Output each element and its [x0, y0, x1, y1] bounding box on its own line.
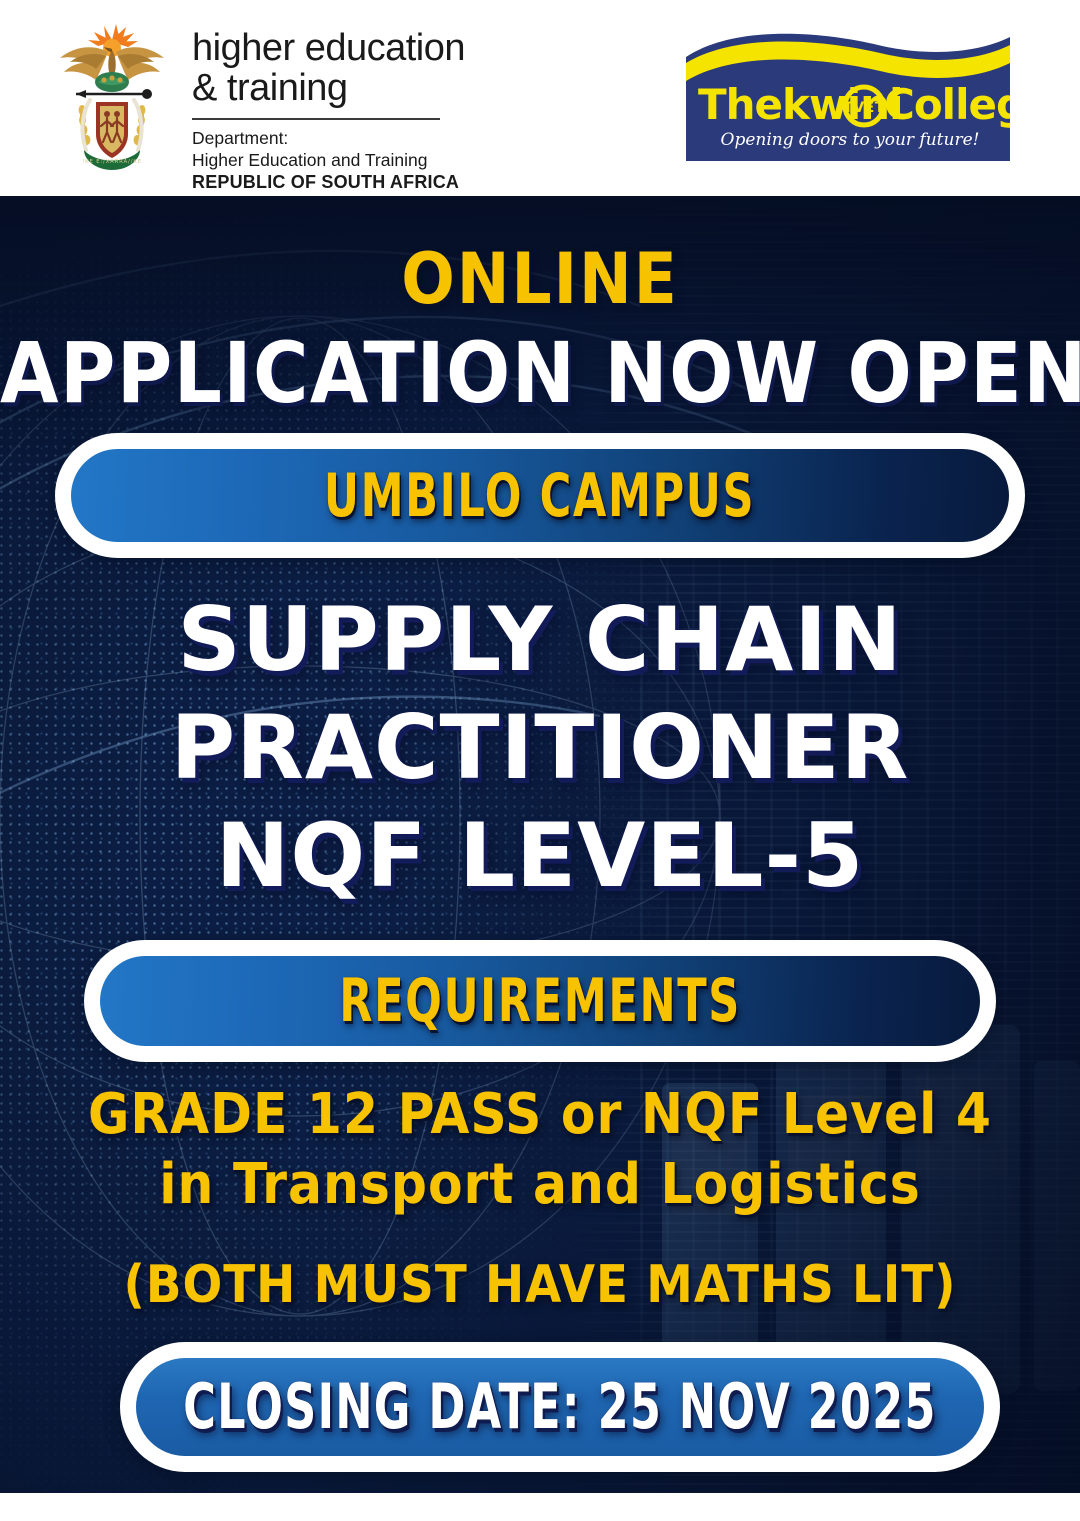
poster-content: ONLINE APPLICATION NOW OPEN FOR: UMBILO …: [0, 196, 1080, 1493]
poster-eyebrow: ONLINE: [0, 244, 1080, 314]
dhet-department-name: Higher Education and Training: [192, 149, 522, 171]
dhet-title-line1: higher education: [192, 28, 522, 68]
requirement-text-1: GRADE 12 PASS or NQF Level 4: [88, 1082, 992, 1147]
svg-text:Opening doors to your future!: Opening doors to your future!: [721, 130, 980, 150]
campus-pill-inner: UMBILO CAMPUS: [71, 449, 1009, 542]
poster-artwork: ONLINE APPLICATION NOW OPEN FOR: UMBILO …: [0, 196, 1080, 1493]
programme-line-1: SUPPLY CHAIN: [0, 586, 1080, 694]
svg-text:TVET: TVET: [843, 100, 885, 116]
closing-date-label: CLOSING DATE: 25 NOV 2025: [183, 1376, 936, 1438]
svg-text:College: College: [884, 80, 1018, 129]
eyebrow-text: ONLINE: [401, 238, 679, 320]
requirement-line-2: in Transport and Logistics: [0, 1156, 1080, 1214]
thekwini-college-logo: Thekwini TVET College Opening doors to y…: [678, 27, 1018, 167]
requirement-line-1: GRADE 12 PASS or NQF Level 4: [0, 1086, 1080, 1144]
dhet-divider: [192, 118, 440, 120]
closing-date-pill: CLOSING DATE: 25 NOV 2025: [120, 1342, 1000, 1472]
dhet-country: REPUBLIC OF SOUTH AFRICA: [192, 172, 459, 192]
south-africa-coat-of-arms-icon: !KE E:/XARRA//KE: [48, 22, 176, 172]
programme-line-3: NQF LEVEL-5: [0, 802, 1080, 910]
programme-line-2: PRACTITIONER: [0, 694, 1080, 802]
requirements-pill: REQUIREMENTS: [84, 940, 996, 1062]
footer-white-strip: [0, 1493, 1080, 1521]
requirement-line-3: (BOTH MUST HAVE MATHS LIT): [0, 1258, 1080, 1312]
requirement-text-3: (BOTH MUST HAVE MATHS LIT): [123, 1255, 956, 1315]
requirements-pill-label: REQUIREMENTS: [339, 971, 741, 1031]
page-header: !KE E:/XARRA//KE higher education & trai…: [0, 0, 1080, 196]
dhet-wordmark: higher education & training Department: …: [192, 28, 522, 193]
dhet-department-label: Department:: [192, 127, 522, 149]
campus-pill-label: UMBILO CAMPUS: [324, 466, 755, 526]
dhet-title-line2: & training: [192, 68, 522, 108]
campus-pill: UMBILO CAMPUS: [55, 433, 1025, 558]
svg-text:!KE E:/XARRA//KE: !KE E:/XARRA//KE: [82, 159, 142, 165]
programme-title: SUPPLY CHAIN PRACTITIONER NQF LEVEL-5: [0, 586, 1080, 910]
closing-date-pill-inner: CLOSING DATE: 25 NOV 2025: [136, 1358, 984, 1456]
requirement-text-2: in Transport and Logistics: [159, 1152, 920, 1217]
requirements-pill-inner: REQUIREMENTS: [100, 956, 980, 1046]
poster-headline: APPLICATION NOW OPEN FOR:: [0, 330, 1080, 416]
headline-text: APPLICATION NOW OPEN FOR:: [0, 324, 1080, 422]
